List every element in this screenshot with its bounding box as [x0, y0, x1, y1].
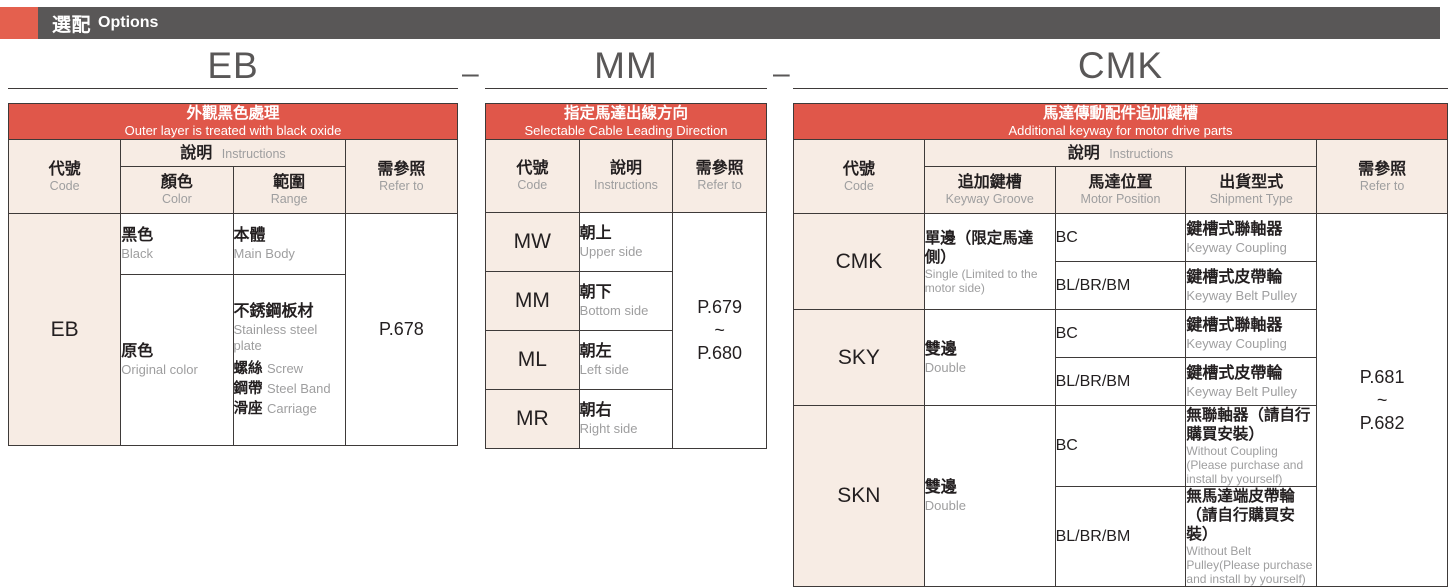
row-code-eb: EB [9, 214, 121, 446]
refer-to-mm-line2: P.680 [673, 342, 766, 365]
code-title-eb-label: EB [8, 46, 458, 86]
table-mm-header-row: 代號 Code 說明 Instructions 需參照 Refer to [486, 140, 767, 213]
col-header-keyway-groove-en: Keyway Groove [925, 192, 1055, 207]
code-title-row: EB – MM – CMK [0, 46, 1453, 98]
col-header-code: 代號 Code [9, 140, 121, 214]
cell-motorpos-sky-blbrbm: BL/BR/BM [1055, 358, 1186, 406]
col-header-range-en: Range [234, 192, 345, 207]
range-item-carriage-cn: 滑座 [234, 401, 263, 417]
table-mm-title-row: 指定馬達出線方向 Selectable Cable Leading Direct… [486, 104, 767, 140]
col-header-refer-to-en: Refer to [673, 178, 766, 193]
col-header-instructions: 說明 Instructions [121, 140, 346, 167]
cell-shipment-sky-bc-en: Keyway Coupling [1186, 336, 1316, 352]
table-mm-title-cn: 指定馬達出線方向 [486, 104, 766, 123]
col-header-shipment-type-en: Shipment Type [1186, 192, 1316, 207]
cell-motorpos-skn-blbrbm: BL/BR/BM [1055, 487, 1186, 587]
col-header-range-cn: 範圍 [234, 173, 345, 192]
range-item-carriage: 滑座 Carriage [234, 399, 345, 419]
col-header-instructions-en: Instructions [222, 147, 286, 161]
code-title-mm-rule [485, 88, 767, 89]
cell-color-original-en: Original color [121, 362, 232, 378]
col-header-code: 代號 Code [486, 140, 580, 213]
col-header-instructions-cn: 說明 [1068, 145, 1100, 162]
cell-shipment-skn-blbrbm-en: Without Belt Pulley(Please purchase and … [1186, 544, 1316, 586]
col-header-code-cn: 代號 [9, 160, 120, 179]
table-row: EB 黑色 Black 本體 Main Body P.678 [9, 214, 458, 275]
range-item-carriage-en: Carriage [267, 401, 317, 416]
table-eb-header-row-1: 代號 Code 說明 Instructions 需參照 Refer to [9, 140, 458, 167]
col-header-motor-position-en: Motor Position [1056, 192, 1186, 207]
range-item-steel-band-cn: 鋼帶 [234, 381, 263, 397]
cell-keyway-cmk: 單邊（限定馬達側） Single (Limited to the motor s… [924, 214, 1055, 310]
row-code-mr: MR [486, 390, 580, 449]
col-header-color-en: Color [121, 192, 232, 207]
table-mm-title-cell: 指定馬達出線方向 Selectable Cable Leading Direct… [486, 104, 767, 140]
table-row: CMK 單邊（限定馬達側） Single (Limited to the mot… [794, 214, 1448, 262]
cell-shipment-cmk-blbrbm-cn: 鍵槽式皮帶輪 [1186, 268, 1316, 288]
cell-direction-bottom-cn: 朝下 [580, 283, 673, 303]
col-header-instructions-en: Instructions [1109, 147, 1173, 161]
code-title-cmk: CMK [793, 46, 1448, 89]
row-code-cmk: CMK [794, 214, 925, 310]
cell-shipment-skn-bc: 無聯軸器（請自行購買安裝） Without Coupling (Please p… [1186, 406, 1317, 487]
col-header-refer-to-en: Refer to [1317, 179, 1447, 194]
col-header-motor-position-cn: 馬達位置 [1056, 173, 1186, 192]
banner-accent-block [0, 7, 38, 39]
cell-shipment-sky-blbrbm-en: Keyway Belt Pulley [1186, 384, 1316, 400]
cell-motorpos-skn-bc: BC [1055, 406, 1186, 487]
cell-range-main-body-cn: 本體 [234, 226, 345, 246]
col-header-refer-to: 需參照 Refer to [345, 140, 457, 214]
refer-to-cmk-tilde: ~ [1317, 389, 1447, 412]
cell-direction-right-en: Right side [580, 421, 673, 437]
col-header-code-cn: 代號 [486, 159, 579, 178]
col-header-shipment-type-cn: 出貨型式 [1186, 173, 1316, 192]
cell-shipment-cmk-bc-cn: 鍵槽式聯軸器 [1186, 220, 1316, 240]
cell-direction-left: 朝左 Left side [579, 331, 673, 390]
refer-to-cmk-line1: P.681 [1317, 366, 1447, 389]
code-title-cmk-rule [793, 88, 1448, 89]
banner-title-en: Options [98, 14, 158, 32]
table-eb-title-en: Outer layer is treated with black oxide [9, 123, 457, 139]
cell-direction-bottom-en: Bottom side [580, 303, 673, 319]
range-item-stainless-cn: 不銹鋼板材 [234, 302, 345, 322]
col-header-instructions-cn: 說明 [180, 145, 212, 162]
col-header-keyway-groove: 追加鍵槽 Keyway Groove [924, 167, 1055, 214]
cell-refer-to-mm: P.679 ~ P.680 [673, 213, 767, 449]
code-title-eb-rule [8, 88, 458, 89]
separator-dash-1: – [462, 64, 479, 84]
range-item-stainless-en: Stainless steel plate [234, 322, 345, 354]
table-mm: 指定馬達出線方向 Selectable Cable Leading Direct… [485, 103, 767, 449]
col-header-refer-to-en: Refer to [346, 179, 457, 194]
refer-to-cmk-line2: P.682 [1317, 412, 1447, 435]
cell-motorpos-cmk-blbrbm: BL/BR/BM [1055, 262, 1186, 310]
col-header-keyway-groove-cn: 追加鍵槽 [925, 173, 1055, 192]
range-item-screw-en: Screw [267, 361, 303, 376]
row-code-mm: MM [486, 272, 580, 331]
table-cmk-title-en: Additional keyway for motor drive parts [794, 123, 1447, 139]
cell-keyway-sky: 雙邊 Double [924, 310, 1055, 406]
col-header-refer-to-cn: 需參照 [673, 159, 766, 178]
cell-keyway-cmk-en: Single (Limited to the motor side) [925, 267, 1055, 295]
cell-shipment-skn-blbrbm-cn: 無馬達端皮帶輪（請自行購買安裝） [1186, 487, 1316, 544]
code-title-eb: EB [8, 46, 458, 89]
options-banner: 選配 Options [0, 7, 1440, 39]
col-header-refer-to: 需參照 Refer to [1317, 140, 1448, 214]
cell-shipment-sky-blbrbm-cn: 鍵槽式皮帶輪 [1186, 364, 1316, 384]
cell-shipment-skn-bc-en: Without Coupling (Please purchase and in… [1186, 444, 1316, 486]
cell-shipment-sky-bc: 鍵槽式聯軸器 Keyway Coupling [1186, 310, 1317, 358]
col-header-color: 顏色 Color [121, 167, 233, 214]
cell-range-original-items: 不銹鋼板材 Stainless steel plate 螺絲 Screw 鋼帶 … [233, 275, 345, 446]
range-item-steel-band: 鋼帶 Steel Band [234, 379, 345, 399]
cell-direction-bottom: 朝下 Bottom side [579, 272, 673, 331]
col-header-code-en: Code [794, 179, 924, 194]
cell-keyway-skn: 雙邊 Double [924, 406, 1055, 587]
table-cmk: 馬達傳動配件追加鍵槽 Additional keyway for motor d… [793, 103, 1448, 587]
refer-to-mm-line1: P.679 [673, 296, 766, 319]
cell-refer-to-cmk: P.681 ~ P.682 [1317, 214, 1448, 587]
col-header-code-en: Code [486, 178, 579, 193]
cell-shipment-cmk-bc-en: Keyway Coupling [1186, 240, 1316, 256]
cell-shipment-cmk-blbrbm-en: Keyway Belt Pulley [1186, 288, 1316, 304]
col-header-instructions-cn: 說明 [580, 159, 673, 178]
col-header-shipment-type: 出貨型式 Shipment Type [1186, 167, 1317, 214]
cell-direction-right: 朝右 Right side [579, 390, 673, 449]
cell-direction-upper: 朝上 Upper side [579, 213, 673, 272]
code-title-mm-label: MM [485, 46, 767, 86]
row-code-sky: SKY [794, 310, 925, 406]
col-header-code: 代號 Code [794, 140, 925, 214]
cell-motorpos-cmk-bc: BC [1055, 214, 1186, 262]
cell-direction-left-en: Left side [580, 362, 673, 378]
col-header-color-cn: 顏色 [121, 173, 232, 192]
table-eb-title-row: 外觀黑色處理 Outer layer is treated with black… [9, 104, 458, 140]
cell-keyway-skn-en: Double [925, 498, 1055, 514]
table-cmk-title-cell: 馬達傳動配件追加鍵槽 Additional keyway for motor d… [794, 104, 1448, 140]
cell-keyway-skn-cn: 雙邊 [925, 478, 1055, 498]
range-item-screw: 螺絲 Screw [234, 359, 345, 379]
cell-shipment-cmk-blbrbm: 鍵槽式皮帶輪 Keyway Belt Pulley [1186, 262, 1317, 310]
col-header-instructions: 說明 Instructions [579, 140, 673, 213]
row-code-ml: ML [486, 331, 580, 390]
table-cmk-header-row-1: 代號 Code 說明 Instructions 需參照 Refer to [794, 140, 1448, 167]
table-row: MW 朝上 Upper side P.679 ~ P.680 [486, 213, 767, 272]
cell-direction-left-cn: 朝左 [580, 342, 673, 362]
col-header-code-en: Code [9, 179, 120, 194]
code-title-mm: MM [485, 46, 767, 89]
table-mm-title-en: Selectable Cable Leading Direction [486, 123, 766, 139]
table-cmk-title-row: 馬達傳動配件追加鍵槽 Additional keyway for motor d… [794, 104, 1448, 140]
cell-shipment-skn-blbrbm: 無馬達端皮帶輪（請自行購買安裝） Without Belt Pulley(Ple… [1186, 487, 1317, 587]
col-header-range: 範圍 Range [233, 167, 345, 214]
range-item-screw-cn: 螺絲 [234, 361, 263, 377]
range-item-steel-band-en: Steel Band [267, 381, 331, 396]
separator-dash-2: – [773, 64, 790, 84]
cell-shipment-cmk-bc: 鍵槽式聯軸器 Keyway Coupling [1186, 214, 1317, 262]
cell-color-black-en: Black [121, 246, 232, 262]
cell-direction-upper-cn: 朝上 [580, 224, 673, 244]
refer-to-mm-tilde: ~ [673, 319, 766, 342]
col-header-refer-to-cn: 需參照 [1317, 160, 1447, 179]
cell-color-black: 黑色 Black [121, 214, 233, 275]
cell-keyway-cmk-cn: 單邊（限定馬達側） [925, 229, 1055, 267]
cell-motorpos-sky-bc: BC [1055, 310, 1186, 358]
col-header-instructions-en: Instructions [580, 178, 673, 193]
cell-shipment-sky-blbrbm: 鍵槽式皮帶輪 Keyway Belt Pulley [1186, 358, 1317, 406]
cell-color-black-cn: 黑色 [121, 226, 232, 246]
col-header-code-cn: 代號 [794, 160, 924, 179]
col-header-refer-to: 需參照 Refer to [673, 140, 767, 213]
cell-direction-right-cn: 朝右 [580, 401, 673, 421]
cell-keyway-sky-en: Double [925, 360, 1055, 376]
cell-color-original-cn: 原色 [121, 342, 232, 362]
cell-shipment-skn-bc-cn: 無聯軸器（請自行購買安裝） [1186, 406, 1316, 444]
cell-range-main-body-en: Main Body [234, 246, 345, 262]
col-header-motor-position: 馬達位置 Motor Position [1055, 167, 1186, 214]
table-eb-title-cn: 外觀黑色處理 [9, 104, 457, 123]
cell-keyway-sky-cn: 雙邊 [925, 340, 1055, 360]
table-eb-title-cell: 外觀黑色處理 Outer layer is treated with black… [9, 104, 458, 140]
col-header-instructions: 說明 Instructions [924, 140, 1316, 167]
banner-title-cn: 選配 [52, 10, 91, 37]
cell-direction-upper-en: Upper side [580, 244, 673, 260]
cell-range-main-body: 本體 Main Body [233, 214, 345, 275]
row-code-mw: MW [486, 213, 580, 272]
table-eb: 外觀黑色處理 Outer layer is treated with black… [8, 103, 458, 446]
banner-bar: 選配 Options [38, 7, 1440, 39]
cell-shipment-sky-bc-cn: 鍵槽式聯軸器 [1186, 316, 1316, 336]
cell-color-original: 原色 Original color [121, 275, 233, 446]
table-cmk-title-cn: 馬達傳動配件追加鍵槽 [794, 104, 1447, 123]
row-code-skn: SKN [794, 406, 925, 587]
cell-refer-to-eb: P.678 [345, 214, 457, 446]
col-header-refer-to-cn: 需參照 [346, 160, 457, 179]
code-title-cmk-label: CMK [793, 46, 1448, 86]
